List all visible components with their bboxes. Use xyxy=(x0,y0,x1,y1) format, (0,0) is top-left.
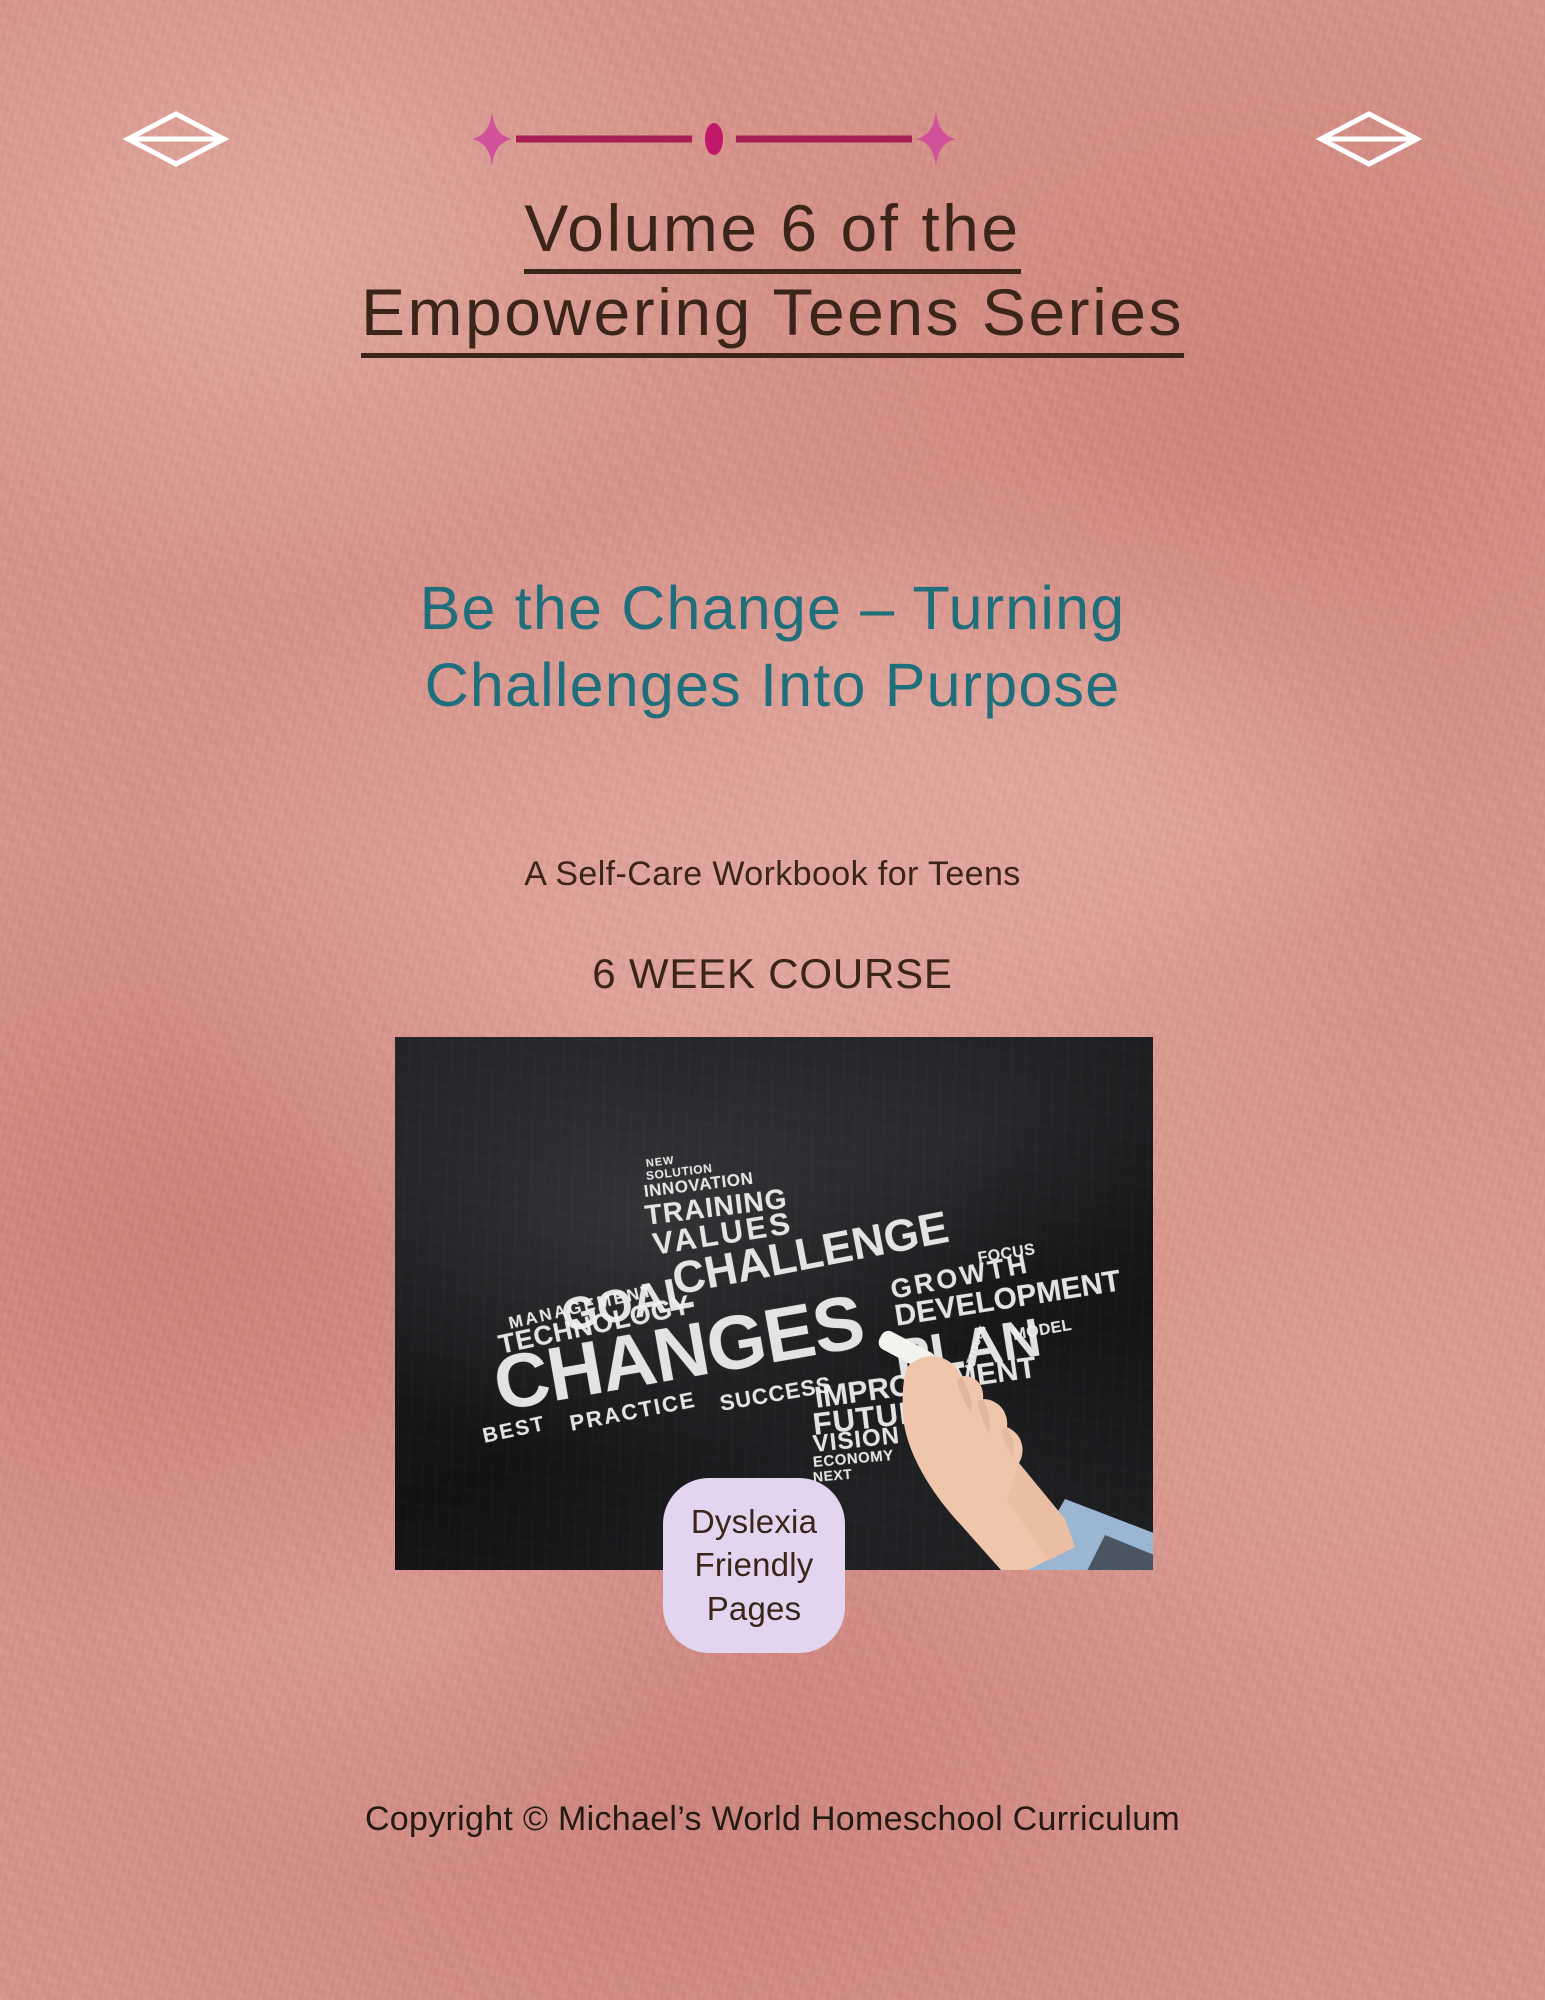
copyright-notice: Copyright © Michael’s World Homeschool C… xyxy=(0,1800,1545,1839)
badge-line-3: Pages xyxy=(707,1589,802,1629)
tagline: A Self-Care Workbook for Teens xyxy=(0,855,1545,894)
cloud-word: BEST xyxy=(481,1412,549,1449)
divider-icon xyxy=(120,108,1425,170)
ornamental-divider xyxy=(120,108,1425,170)
series-title: Volume 6 of the Empowering Teens Series xyxy=(0,190,1545,358)
badge-line-1: Dyslexia xyxy=(691,1502,817,1542)
dyslexia-friendly-badge: Dyslexia Friendly Pages xyxy=(663,1478,845,1653)
course-length: 6 WEEK COURSE xyxy=(0,950,1545,998)
badge-line-2: Friendly xyxy=(695,1545,814,1585)
book-title-line-2: Challenges Into Purpose xyxy=(0,647,1545,724)
series-title-line-2: Empowering Teens Series xyxy=(361,274,1184,358)
book-cover: Volume 6 of the Empowering Teens Series … xyxy=(0,0,1545,2000)
series-title-line-1: Volume 6 of the xyxy=(524,190,1020,274)
book-title-line-1: Be the Change – Turning xyxy=(0,570,1545,647)
hand-with-chalk-icon xyxy=(869,1329,1153,1570)
book-title: Be the Change – Turning Challenges Into … xyxy=(0,570,1545,724)
